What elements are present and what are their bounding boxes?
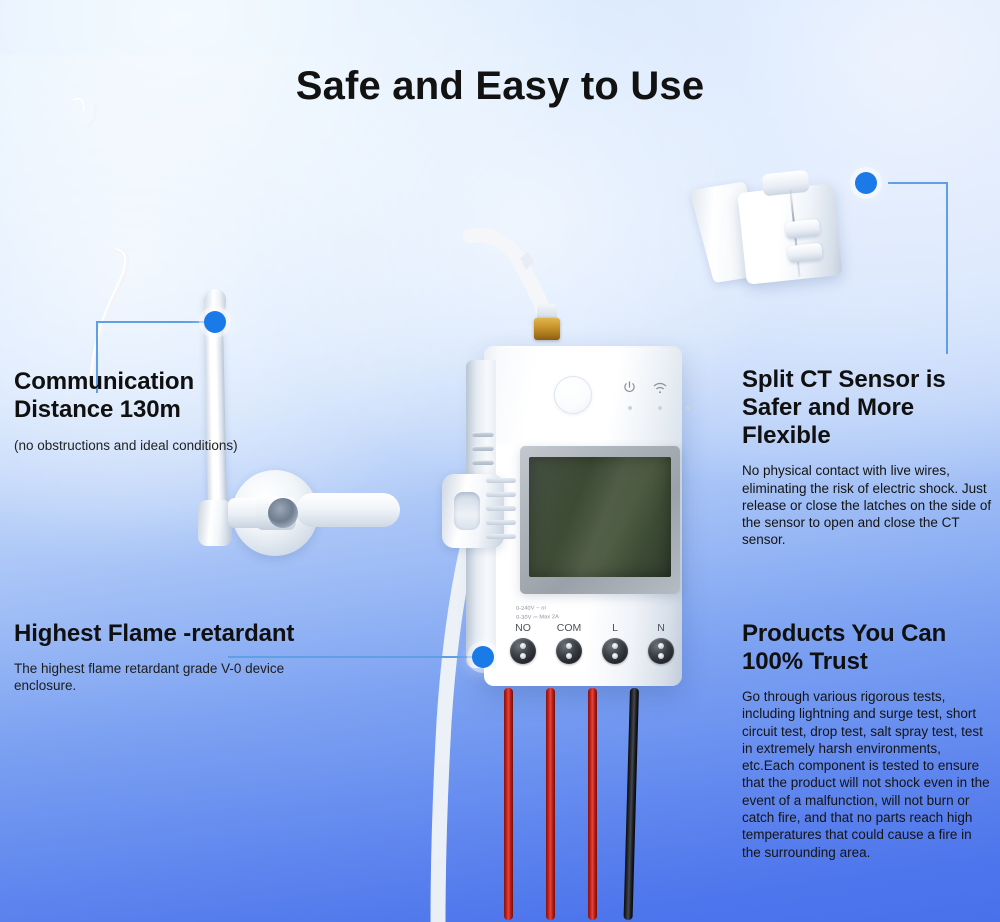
terminal-label: NO xyxy=(502,622,544,634)
energy-meter-device: NO COM L N xyxy=(466,346,682,696)
vent-slot xyxy=(472,446,494,451)
callout-split-ct-sensor: Split CT Sensor is Safer and More Flexib… xyxy=(742,366,992,549)
din-rail-clip-hole xyxy=(454,492,480,530)
terminal-com: COM xyxy=(548,622,590,664)
callout-title: Products You Can 100% Trust xyxy=(742,620,994,676)
din-rail-clip-fin xyxy=(486,506,516,511)
wire-red xyxy=(504,688,513,920)
ct-sensor-latch-upper xyxy=(785,219,821,239)
terminal-label: L xyxy=(594,622,636,634)
vent-slot xyxy=(472,432,494,437)
status-led xyxy=(686,406,690,410)
callout-body: Go through various rigorous tests, inclu… xyxy=(742,688,994,861)
terminal-label: COM xyxy=(548,622,590,634)
terminal-screw xyxy=(602,638,628,664)
wifi-icon xyxy=(652,381,668,395)
status-led xyxy=(658,406,662,410)
terminal-block: NO COM L N xyxy=(500,622,682,684)
device-top-panel xyxy=(496,348,682,444)
device-spec-label: 0-240V ~ or 0-30V ⎓ Max 2A xyxy=(516,603,622,622)
ct-sensor-cable xyxy=(0,0,130,250)
connector-line-ct-sensor xyxy=(888,182,948,184)
antenna-ring xyxy=(268,498,298,528)
din-rail-clip-fin xyxy=(486,520,516,525)
terminal-label: N xyxy=(640,622,682,634)
split-ct-sensor xyxy=(688,168,852,301)
connector-dot-flame[interactable] xyxy=(472,646,494,668)
ct-sensor-latch-lower xyxy=(787,243,823,263)
terminal-l: L xyxy=(594,622,636,664)
callout-title: Split CT Sensor is Safer and More Flexib… xyxy=(742,366,992,450)
antenna-hinge xyxy=(198,500,232,546)
wire-red xyxy=(588,688,597,920)
callout-body: The highest flame retardant grade V-0 de… xyxy=(14,660,304,695)
connector-dot-communication[interactable] xyxy=(204,311,226,333)
callout-communication-distance: Communication Distance 130m (no obstruct… xyxy=(14,368,260,455)
status-led xyxy=(628,406,632,410)
callout-products-trust: Products You Can 100% Trust Go through v… xyxy=(742,620,994,861)
device-round-button[interactable] xyxy=(554,376,592,414)
sma-connector-brass xyxy=(534,318,560,340)
terminal-no: NO xyxy=(502,622,544,664)
power-icon xyxy=(622,380,637,395)
din-rail-clip-fin xyxy=(486,534,516,539)
terminal-screw xyxy=(648,638,674,664)
infographic-canvas: Safe and Easy to Use xyxy=(0,0,1000,922)
callout-title: Highest Flame -retardant xyxy=(14,620,304,648)
callout-body: No physical contact with live wires, eli… xyxy=(742,462,992,548)
callout-flame-retardant: Highest Flame -retardant The highest fla… xyxy=(14,620,304,695)
terminal-screw xyxy=(510,638,536,664)
callout-sub: (no obstructions and ideal conditions) xyxy=(14,437,260,455)
vent-slot xyxy=(472,460,494,465)
din-rail-clip-fin xyxy=(486,492,516,497)
lcd-glare xyxy=(529,457,671,577)
wire-red xyxy=(546,688,555,920)
terminal-screw xyxy=(556,638,582,664)
connector-line-ct-sensor xyxy=(946,182,948,354)
callout-title: Communication Distance 130m xyxy=(14,368,260,424)
connector-dot-ct-sensor[interactable] xyxy=(855,172,877,194)
antenna-connector-sleeve xyxy=(296,493,400,527)
terminal-n: N xyxy=(640,622,682,664)
connector-line-communication xyxy=(96,321,216,323)
lcd-bezel xyxy=(520,446,680,594)
din-rail-clip-fin xyxy=(486,478,516,483)
